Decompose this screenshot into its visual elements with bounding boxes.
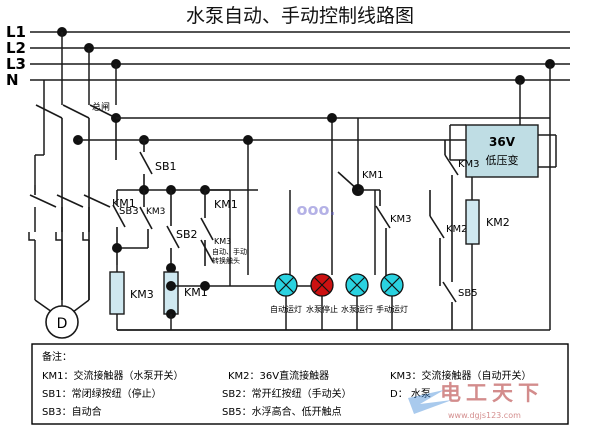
diagram-canvas: 水泵自动、手动控制线路图 L1 L2 L3 N 总闸: [0, 0, 600, 432]
indicator-lamp-1: [275, 274, 297, 296]
power-rails: [30, 32, 570, 80]
km3-transfer-note1: 自动、手动: [212, 247, 247, 256]
sb5-label: SB5: [458, 288, 478, 299]
control-feed-second: [78, 80, 520, 140]
thermal-overload-relay: [29, 232, 89, 300]
transformer-voltage: 36V: [489, 135, 516, 149]
km3-right-contact[interactable]: [358, 190, 390, 286]
lamp3-feed-node: [327, 113, 337, 123]
control-feed-top: [116, 64, 550, 330]
rail-drops: [44, 32, 116, 112]
transformer-type: 低压变: [486, 153, 519, 167]
km3-coil: [110, 272, 124, 314]
transfer-node: [200, 281, 210, 291]
motor-label: D: [57, 316, 68, 332]
sb3-label: SB3: [119, 206, 139, 217]
km2-contact-label: KM2: [446, 224, 468, 235]
sb2-label: SB2: [176, 228, 198, 241]
km1-top-label: KM1: [362, 170, 384, 181]
legend-sb5: SB5：水浮高合、低开触点: [222, 405, 342, 418]
legend-km2: KM2：36V直流接触器: [228, 369, 329, 382]
km2-coil-label: KM2: [486, 216, 510, 229]
km1-holding-label: KM1: [214, 198, 238, 211]
page-title: 水泵自动、手动控制线路图: [186, 5, 414, 27]
brand-watermark-url: www.dgjs123.com: [448, 411, 521, 420]
km1-coil: [164, 272, 178, 314]
center-watermark: ooo.: [296, 200, 335, 219]
km3-right-label: KM3: [390, 214, 412, 225]
legend-heading: 备注：: [42, 350, 72, 363]
km3-aux-node: [112, 243, 122, 253]
km3-transfer-label: KM3: [214, 237, 231, 246]
sb5-switch[interactable]: [443, 282, 456, 330]
rail-label-n: N: [6, 71, 19, 89]
indicator-lamp-4: [381, 274, 403, 296]
legend-km1: KM1：交流接触器（水泵开关）: [42, 369, 184, 382]
km3-coil-label: KM3: [130, 288, 154, 301]
km3-transformer-label: KM3: [458, 159, 480, 170]
km2-contact[interactable]: [430, 190, 444, 286]
lamp-feed-wires: [248, 118, 375, 275]
sb1-switch[interactable]: [140, 140, 152, 190]
main-switch-label: 总闸: [92, 101, 110, 113]
circuit-diagram-svg: 水泵自动、手动控制线路图 L1 L2 L3 N 总闸: [0, 0, 600, 432]
rail-junctions: [57, 27, 555, 85]
km2-coil: [466, 200, 479, 244]
indicator-lamp-2: [311, 274, 333, 296]
lamp-return-wires: [286, 274, 392, 330]
brand-watermark: 电工天下 www.dgjs123.com: [408, 381, 544, 420]
legend-sb2: SB2：常开红按纽（手动关）: [222, 387, 352, 400]
legend-sb3: SB3：自动合: [42, 405, 102, 418]
km1-branch-node: [166, 281, 176, 291]
km3-aux-label: KM3: [146, 207, 165, 217]
km3-transformer-contact[interactable]: [445, 140, 458, 282]
sb1-label: SB1: [155, 160, 177, 173]
km1-main-contacts[interactable]: [30, 185, 110, 207]
km3-transfer-note2: 转换触头: [212, 256, 240, 265]
legend-sb1: SB1：常闭绿按纽（停止）: [42, 387, 162, 400]
indicator-lamp-3: [346, 274, 368, 296]
brand-watermark-text: 电工天下: [440, 381, 544, 405]
lamp1-feed-node: [243, 135, 253, 145]
